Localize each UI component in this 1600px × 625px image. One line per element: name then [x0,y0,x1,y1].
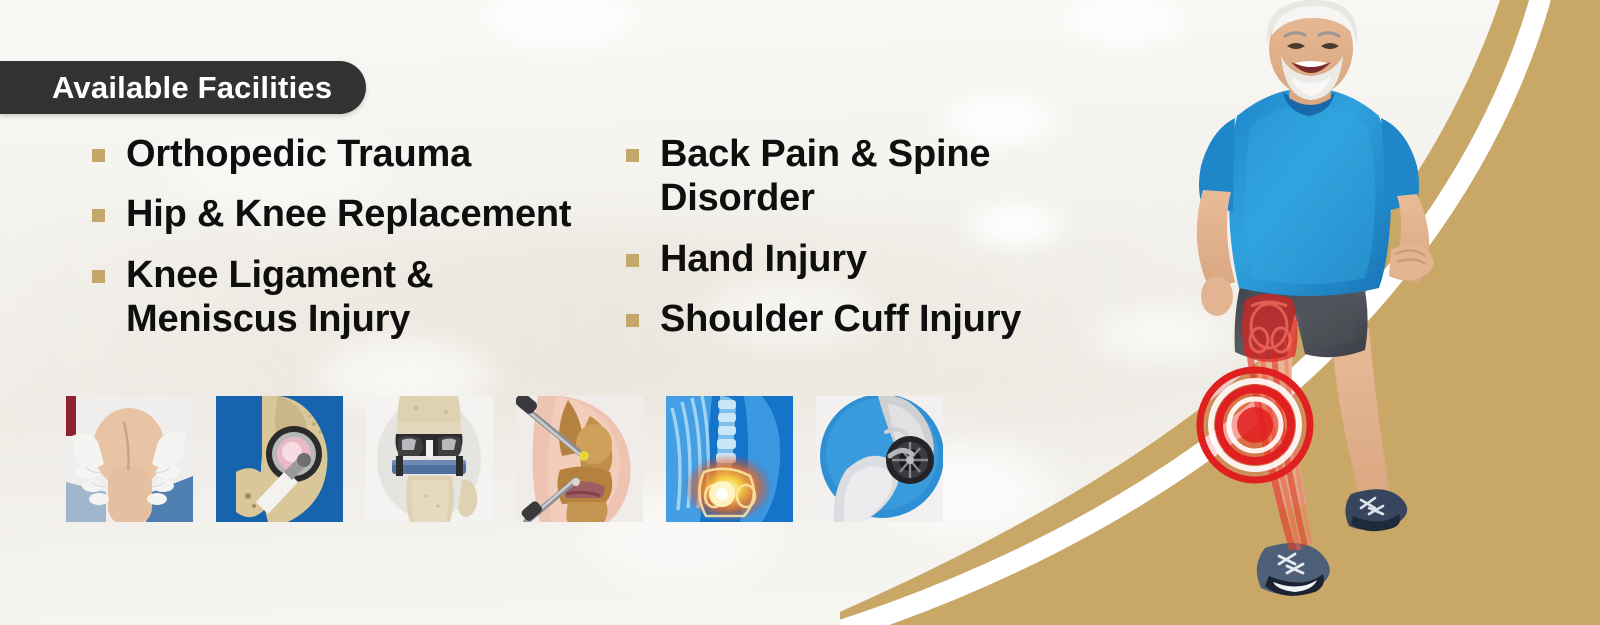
section-header-pill: Available Facilities [0,61,366,114]
facility-item-knee-ligament-meniscus-injury[interactable]: Knee Ligament & Meniscus Injury [92,253,612,342]
facility-label: Shoulder Cuff Injury [660,297,1021,341]
bullet-square-icon [92,209,105,222]
hip-replacement-model-photo[interactable] [216,396,343,522]
bullet-square-icon [626,254,639,267]
knee-examination-photo[interactable] [66,396,193,522]
facility-item-back-pain-spine-disorder[interactable]: Back Pain & Spine Disorder [626,132,1046,221]
facility-label: Orthopedic Trauma [126,132,471,176]
facility-label: Hip & Knee Replacement [126,192,571,236]
facility-item-hip-knee-replacement[interactable]: Hip & Knee Replacement [92,192,612,236]
procedure-thumbnail-strip [66,396,943,522]
bullet-square-icon [92,270,105,283]
facility-item-hand-injury[interactable]: Hand Injury [626,237,1046,281]
knee-arthroscopy-illustration[interactable] [516,396,643,522]
knee-implant-prosthesis-photo[interactable] [366,396,493,522]
bullet-square-icon [92,149,105,162]
facilities-left-column: Orthopedic Trauma Hip & Knee Replacement… [92,132,612,358]
spine-lower-back-pain-xray[interactable] [666,396,793,522]
bullet-square-icon [626,314,639,327]
facility-item-shoulder-cuff-injury[interactable]: Shoulder Cuff Injury [626,297,1046,341]
bullet-square-icon [626,149,639,162]
available-facilities-banner: Available Facilities Orthopedic Trauma H… [0,0,1600,625]
shoulder-replacement-implant[interactable] [816,396,943,522]
facilities-right-column: Back Pain & Spine Disorder Hand Injury S… [626,132,1046,358]
senior-runner-photo [1145,0,1600,625]
page-title: Available Facilities [52,70,332,106]
facility-label: Hand Injury [660,237,867,281]
facility-item-orthopedic-trauma[interactable]: Orthopedic Trauma [92,132,612,176]
facility-label: Back Pain & Spine Disorder [660,132,1046,221]
facility-label: Knee Ligament & Meniscus Injury [126,253,612,342]
